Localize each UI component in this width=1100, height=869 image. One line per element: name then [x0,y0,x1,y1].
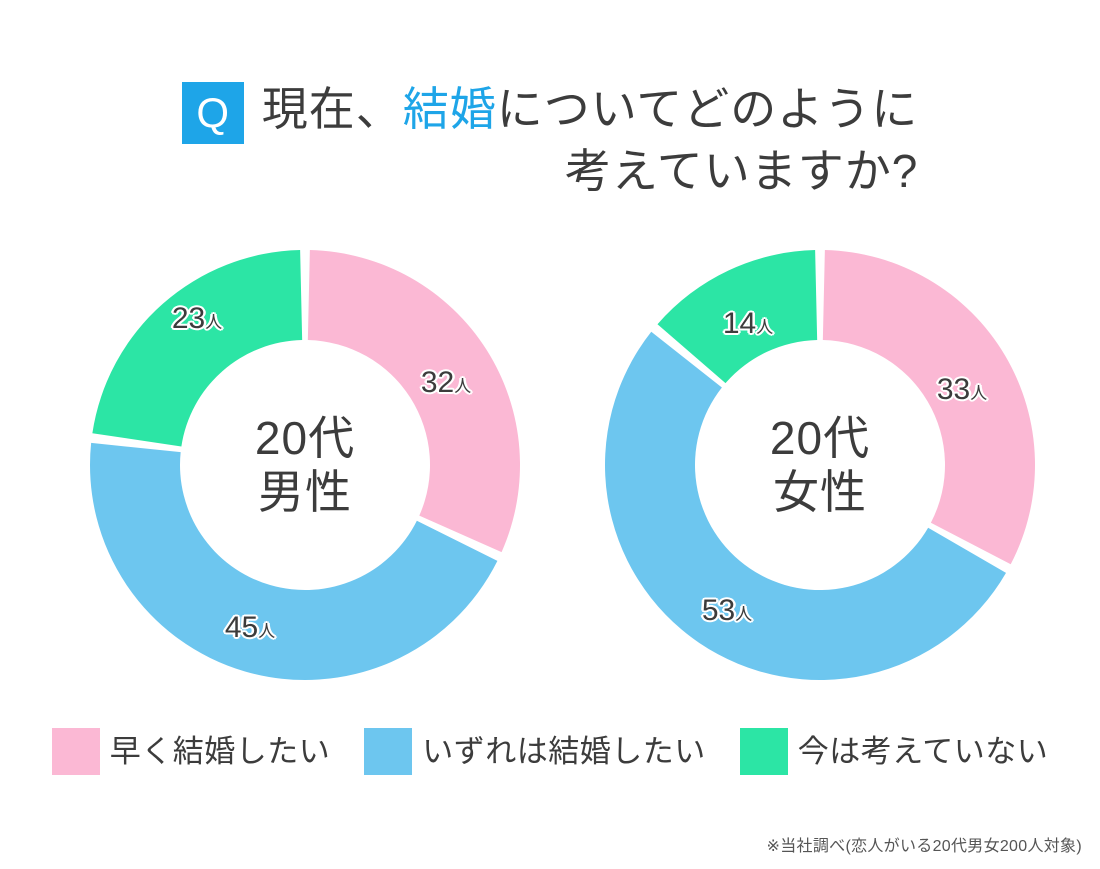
legend: 早く結婚したい いずれは結婚したい 今は考えていない [0,728,1100,775]
title-block: Q 現在、結婚についてどのように 考えていますか? [0,78,1100,202]
page-title: 現在、結婚についてどのように 考えていますか? [262,78,919,202]
legend-label: 今は考えていない [798,732,1048,772]
donut-chart-male: 20代 男性 [82,242,528,688]
slice-unit: 人 [970,384,987,403]
slice-value: 23 [172,302,205,335]
title-segment-after: についてどのように [497,83,919,135]
legend-label: いずれは結婚したい [422,732,706,772]
slice-value-label: 45人 [225,613,275,647]
slice-unit: 人 [735,605,752,624]
slice-value-label: 32人 [421,368,471,402]
legend-label: 早く結婚したい [110,732,331,772]
slice-value-label: 23人 [172,304,222,338]
slice-value-label: 53人 [702,596,752,630]
slice-value: 53 [702,594,735,627]
charts-area: 20代 男性 20代 女性 [0,242,1100,692]
legend-swatch-icon [740,728,788,775]
slice-value: 32 [421,366,454,399]
donut-slice[interactable] [308,250,520,552]
slice-unit: 人 [756,318,773,337]
title-line-2: 考えていますか? [565,140,918,202]
donut-slices-female [605,250,1035,680]
legend-swatch-icon [52,728,100,775]
source-footnote: ※当社調べ(恋人がいる20代男女200人対象) [767,836,1082,858]
slice-value-label: 33人 [937,375,987,409]
slice-value: 33 [937,373,970,406]
donut-svg-male [82,242,528,688]
legend-item-0[interactable]: 早く結婚したい [52,728,331,775]
slice-value-label: 14人 [723,309,773,343]
donut-chart-female: 20代 女性 [597,242,1043,688]
title-segment-before: 現在、 [262,83,403,135]
slice-value: 14 [723,307,756,340]
slice-value: 45 [225,611,258,644]
title-line-1: 現在、結婚についてどのように [262,78,919,140]
slice-unit: 人 [205,313,222,332]
donut-slice[interactable] [92,250,302,446]
slice-unit: 人 [454,377,471,396]
title-segment-highlight: 結婚 [403,83,497,135]
slice-unit: 人 [258,622,275,641]
legend-item-1[interactable]: いずれは結婚したい [364,728,706,775]
donut-svg-female [597,242,1043,688]
legend-swatch-icon [364,728,412,775]
donut-slices-male [90,250,520,680]
donut-slice[interactable] [823,250,1035,564]
legend-item-2[interactable]: 今は考えていない [740,728,1048,775]
question-badge: Q [182,82,244,144]
